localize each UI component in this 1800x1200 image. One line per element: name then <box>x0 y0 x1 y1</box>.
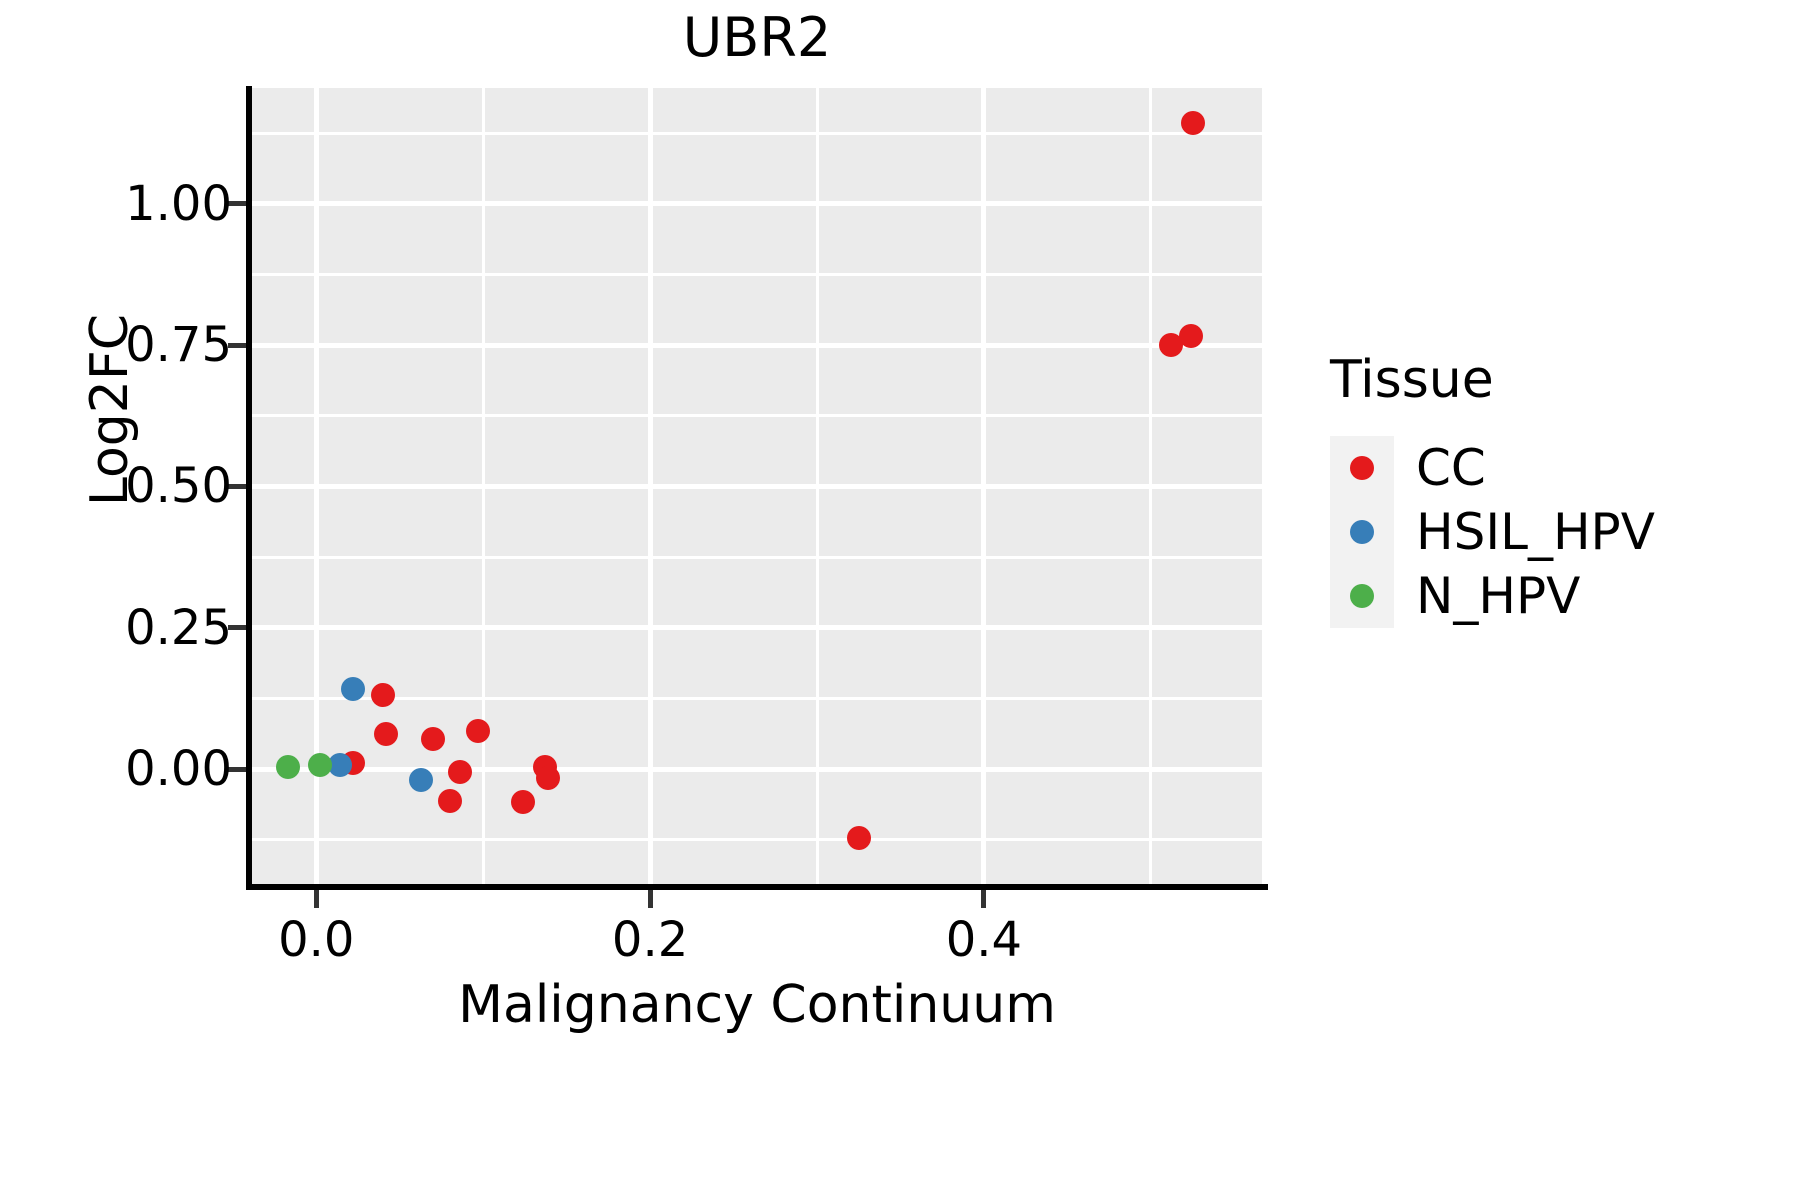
legend-swatch-icon <box>1350 520 1374 544</box>
gridline-major-horizontal <box>252 201 1262 206</box>
y-tick-label: 0.25 <box>125 600 232 656</box>
x-tick-label: 0.0 <box>278 912 354 968</box>
x-axis-title: Malignancy Continuum <box>252 975 1262 1035</box>
gridline-minor-horizontal <box>252 273 1262 276</box>
y-axis-title: Log2FC <box>80 60 140 760</box>
gridline-minor-horizontal <box>252 414 1262 417</box>
scatter-point <box>371 683 395 707</box>
scatter-point <box>536 766 560 790</box>
chart-title: UBR2 <box>252 8 1262 67</box>
scatter-point <box>1181 111 1205 135</box>
scatter-point <box>1179 324 1203 348</box>
gridline-minor-horizontal <box>252 132 1262 135</box>
legend-item-n_hpv[interactable]: N_HPV <box>1330 564 1790 628</box>
legend-key-background <box>1330 436 1394 500</box>
legend-items: CCHSIL_HPVN_HPV <box>1330 436 1790 628</box>
x-tick-label: 0.4 <box>946 912 1022 968</box>
y-tick-label: 1.00 <box>125 176 232 232</box>
scatter-point <box>374 722 398 746</box>
gridline-minor-horizontal <box>252 838 1262 841</box>
scatter-point <box>847 826 871 850</box>
gridline-major-horizontal <box>252 767 1262 772</box>
legend-item-hsil_hpv[interactable]: HSIL_HPV <box>1330 500 1790 564</box>
gridline-major-horizontal <box>252 625 1262 630</box>
scatter-point <box>438 789 462 813</box>
legend: Tissue CCHSIL_HPVN_HPV <box>1330 350 1790 628</box>
legend-key-background <box>1330 564 1394 628</box>
y-axis-line <box>246 86 252 886</box>
legend-title: Tissue <box>1330 350 1790 410</box>
scatter-point <box>511 790 535 814</box>
scatter-point <box>466 719 490 743</box>
x-tick-mark <box>314 890 319 908</box>
x-tick-mark <box>981 890 986 908</box>
y-tick-label: 0.50 <box>125 458 232 514</box>
x-axis-line <box>246 884 1268 890</box>
legend-item-label: N_HPV <box>1416 567 1580 625</box>
plot-panel <box>252 88 1262 884</box>
legend-swatch-icon <box>1350 456 1374 480</box>
legend-item-cc[interactable]: CC <box>1330 436 1790 500</box>
y-tick-label: 0.00 <box>125 741 232 797</box>
x-tick-mark <box>648 890 653 908</box>
chart-figure: UBR2 0.000.250.500.751.00 0.00.20.4 Mali… <box>0 0 1800 1200</box>
scatter-point <box>308 753 332 777</box>
gridline-major-horizontal <box>252 484 1262 489</box>
scatter-point <box>409 768 433 792</box>
y-tick-label: 0.75 <box>125 317 232 373</box>
gridline-minor-horizontal <box>252 556 1262 559</box>
scatter-point <box>421 727 445 751</box>
x-tick-label: 0.2 <box>612 912 688 968</box>
gridline-major-horizontal <box>252 343 1262 348</box>
gridline-minor-horizontal <box>252 697 1262 700</box>
legend-swatch-icon <box>1350 584 1374 608</box>
legend-item-label: HSIL_HPV <box>1416 503 1655 561</box>
legend-key-background <box>1330 500 1394 564</box>
scatter-point <box>448 760 472 784</box>
scatter-point <box>341 677 365 701</box>
scatter-point <box>276 755 300 779</box>
legend-item-label: CC <box>1416 439 1486 497</box>
